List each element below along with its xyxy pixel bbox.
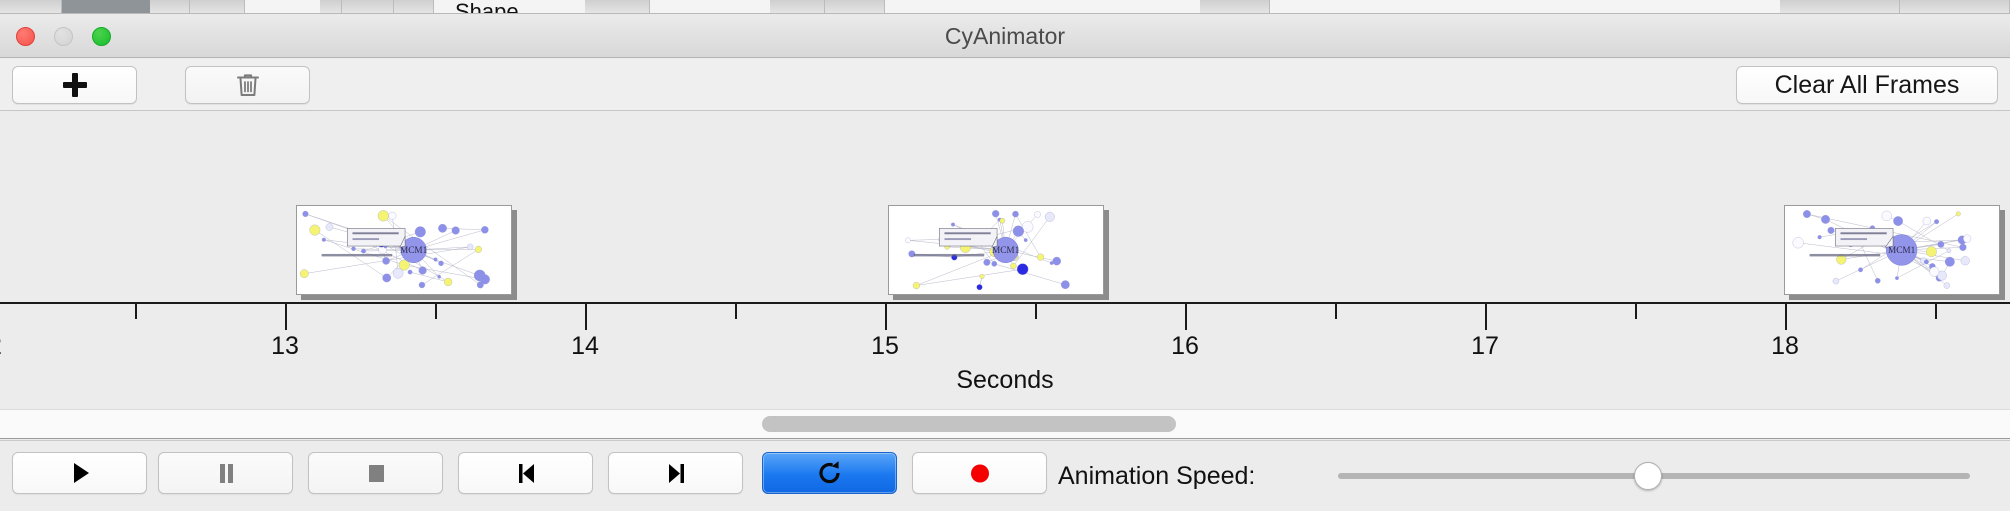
timeline-scrollbar[interactable]	[0, 409, 2010, 439]
stop-icon	[359, 456, 393, 490]
timeline-scrollbar-thumb[interactable]	[762, 416, 1176, 432]
background-window-segment	[1780, 0, 1900, 14]
delete-frame-button[interactable]	[185, 66, 310, 104]
axis-tick-label: 18	[1745, 332, 1825, 361]
timeline-frame-thumbnail[interactable]: MCM1	[296, 205, 512, 295]
background-window-segment	[394, 0, 434, 14]
timeline-frame-thumbnail[interactable]: MCM1	[888, 205, 1104, 295]
timeline-frame-thumbnail[interactable]: MCM1	[1784, 205, 2000, 295]
plus-icon	[62, 72, 88, 98]
timeline-axis: Seconds 2131415161718	[0, 304, 2010, 409]
frame-toolbar: Clear All Frames	[0, 59, 2010, 111]
svg-text:MCM1: MCM1	[992, 245, 1020, 255]
axis-tick-minor	[1335, 304, 1337, 319]
play-icon	[63, 456, 97, 490]
record-button[interactable]	[912, 452, 1047, 494]
frame-image: MCM1	[296, 205, 512, 295]
skip-back-icon	[509, 456, 543, 490]
playback-controls-bar: Animation Speed:	[0, 440, 2010, 510]
axis-tick-label: 2	[0, 332, 35, 361]
animation-speed-thumb[interactable]	[1634, 462, 1662, 490]
axis-tick-label: 14	[545, 332, 625, 361]
loop-button[interactable]	[762, 452, 897, 494]
axis-tick-minor	[735, 304, 737, 319]
skip-to-end-button[interactable]	[608, 452, 743, 494]
axis-tick-major	[1485, 304, 1487, 330]
axis-title: Seconds	[0, 366, 2010, 395]
animation-speed-label: Animation Speed:	[1058, 441, 1255, 511]
page-title: CyAnimator	[0, 14, 2010, 58]
background-window-segment	[585, 0, 650, 14]
axis-tick-major	[1185, 304, 1187, 330]
record-icon	[963, 456, 997, 490]
axis-tick-minor	[1935, 304, 1937, 319]
play-button[interactable]	[12, 452, 147, 494]
axis-tick-major	[285, 304, 287, 330]
pause-button	[158, 452, 293, 494]
axis-tick-label: 13	[245, 332, 325, 361]
axis-tick-minor	[435, 304, 437, 319]
axis-tick-label: 17	[1445, 332, 1525, 361]
axis-tick-minor	[1035, 304, 1037, 319]
background-window-segment	[150, 0, 190, 14]
frame-image: MCM1	[1784, 205, 2000, 295]
loop-icon	[813, 456, 847, 490]
skip-to-start-button[interactable]	[458, 452, 593, 494]
axis-tick-label: 16	[1145, 332, 1225, 361]
axis-tick-major	[1785, 304, 1787, 330]
pause-icon	[209, 456, 243, 490]
add-frame-button[interactable]	[12, 66, 137, 104]
background-window-segment	[1200, 0, 1270, 14]
clear-all-frames-label: Clear All Frames	[1775, 71, 1960, 100]
timeline-frames-area[interactable]: MCM1MCM1MCM1	[0, 112, 2010, 304]
skip-forward-icon	[659, 456, 693, 490]
background-window-segment	[190, 0, 245, 14]
axis-tick-major	[585, 304, 587, 330]
background-window-segment	[0, 0, 62, 14]
clear-all-frames-button[interactable]: Clear All Frames	[1736, 66, 1998, 104]
background-window-strip: Shape	[0, 0, 2010, 14]
background-window-label: Shape	[455, 1, 519, 14]
background-window-segment	[342, 0, 394, 14]
stop-button	[308, 452, 443, 494]
svg-text:MCM1: MCM1	[400, 245, 428, 255]
axis-tick-label: 15	[845, 332, 925, 361]
frame-image: MCM1	[888, 205, 1104, 295]
animation-speed-slider[interactable]	[1338, 441, 1970, 511]
background-window-segment	[770, 0, 825, 14]
background-window-segment	[320, 0, 342, 14]
axis-tick-major	[885, 304, 887, 330]
axis-tick-minor	[135, 304, 137, 319]
background-window-segment	[1900, 0, 2010, 14]
axis-tick-minor	[1635, 304, 1637, 319]
window-titlebar: CyAnimator	[0, 14, 2010, 58]
background-window-segment	[825, 0, 885, 14]
svg-text:MCM1: MCM1	[1888, 245, 1916, 255]
trash-icon	[233, 70, 263, 100]
